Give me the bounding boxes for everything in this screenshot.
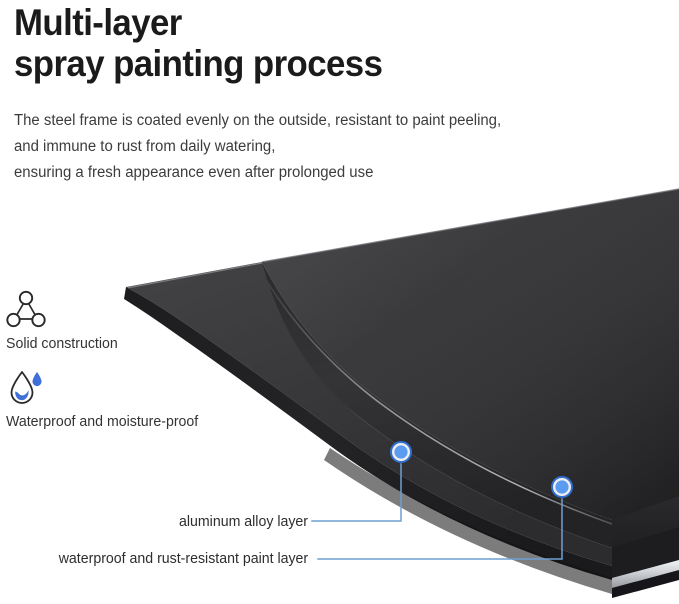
callout-label-aluminum-alloy-layer: aluminum alloy layer [179, 513, 308, 531]
callout-connector-layer [0, 0, 679, 604]
callout-connector-paint [318, 499, 562, 559]
infographic-page: Multi-layer spray painting process The s… [0, 0, 679, 604]
callout-dot-paint[interactable] [552, 477, 573, 498]
callout-connector-aluminum [312, 464, 401, 521]
callout-dot-aluminum[interactable] [391, 442, 412, 463]
callout-label-paint-layer: waterproof and rust-resistant paint laye… [59, 550, 308, 568]
